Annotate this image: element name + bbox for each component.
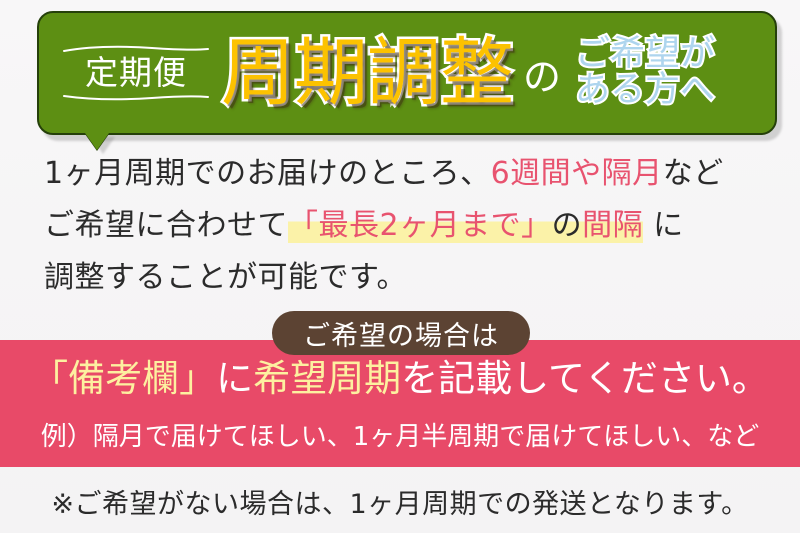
header-subtitle-block: ご希望が ある方へ <box>575 37 715 108</box>
header-banner: 定期便 周期調整 の ご希望が ある方へ <box>37 11 777 135</box>
pink-band-example-line: 例）隔月で届けてほしい、1ヶ月半周期で届けてほしい、など <box>0 416 800 453</box>
body-paragraph: 1ヶ月周期でのお届けのところ、6週間や隔月など ご希望に合わせて「最長2ヶ月まで… <box>44 148 760 304</box>
body-line1-part-a: 1ヶ月周期でのお届けのところ、 <box>44 156 491 191</box>
pink-band-particle-ni: に <box>216 357 253 400</box>
header-green-box: 定期便 周期調整 の ご希望が ある方へ <box>37 11 777 135</box>
wave-line-bottom-icon <box>62 92 210 101</box>
body-line2-part-a: ご希望に合わせて <box>44 208 288 243</box>
body-line3: 調整することが可能です。 <box>44 260 407 295</box>
pink-band-instruction: を記載してください。 <box>401 357 769 400</box>
body-line2-highlight-quote: 「最長2ヶ月まで」 <box>288 208 552 243</box>
header-title-main: 周期調整 <box>221 36 513 110</box>
pink-band-remarks-field: 「備考欄」 <box>31 357 216 400</box>
header-subtitle-line1: ご希望が <box>575 37 715 73</box>
subscription-badge-block: 定期便 <box>61 43 211 104</box>
footer-note: ※ご希望がない場合は、1ヶ月周期での発送となります。 <box>0 482 800 521</box>
header-subtitle-line2: ある方へ <box>575 73 715 109</box>
request-case-badge: ご希望の場合は <box>272 311 530 355</box>
pink-band-desired-cycle: 希望周期 <box>253 357 401 400</box>
body-line2-highlight-no: の <box>552 208 583 243</box>
body-line1-accent: 6週間や隔月 <box>491 156 663 191</box>
body-line2-part-e: に <box>643 208 684 243</box>
pink-band-main-line: 「備考欄」に希望周期を記載してください。 <box>0 358 800 401</box>
header-title-particle: の <box>523 46 561 101</box>
body-line1-part-c: など <box>663 156 724 191</box>
subscription-label: 定期便 <box>61 56 211 91</box>
body-line2-highlight-interval: 間隔 <box>582 208 643 243</box>
pink-highlight-band: 「備考欄」に希望周期を記載してください。 例）隔月で届けてほしい、1ヶ月半周期で… <box>0 340 800 467</box>
